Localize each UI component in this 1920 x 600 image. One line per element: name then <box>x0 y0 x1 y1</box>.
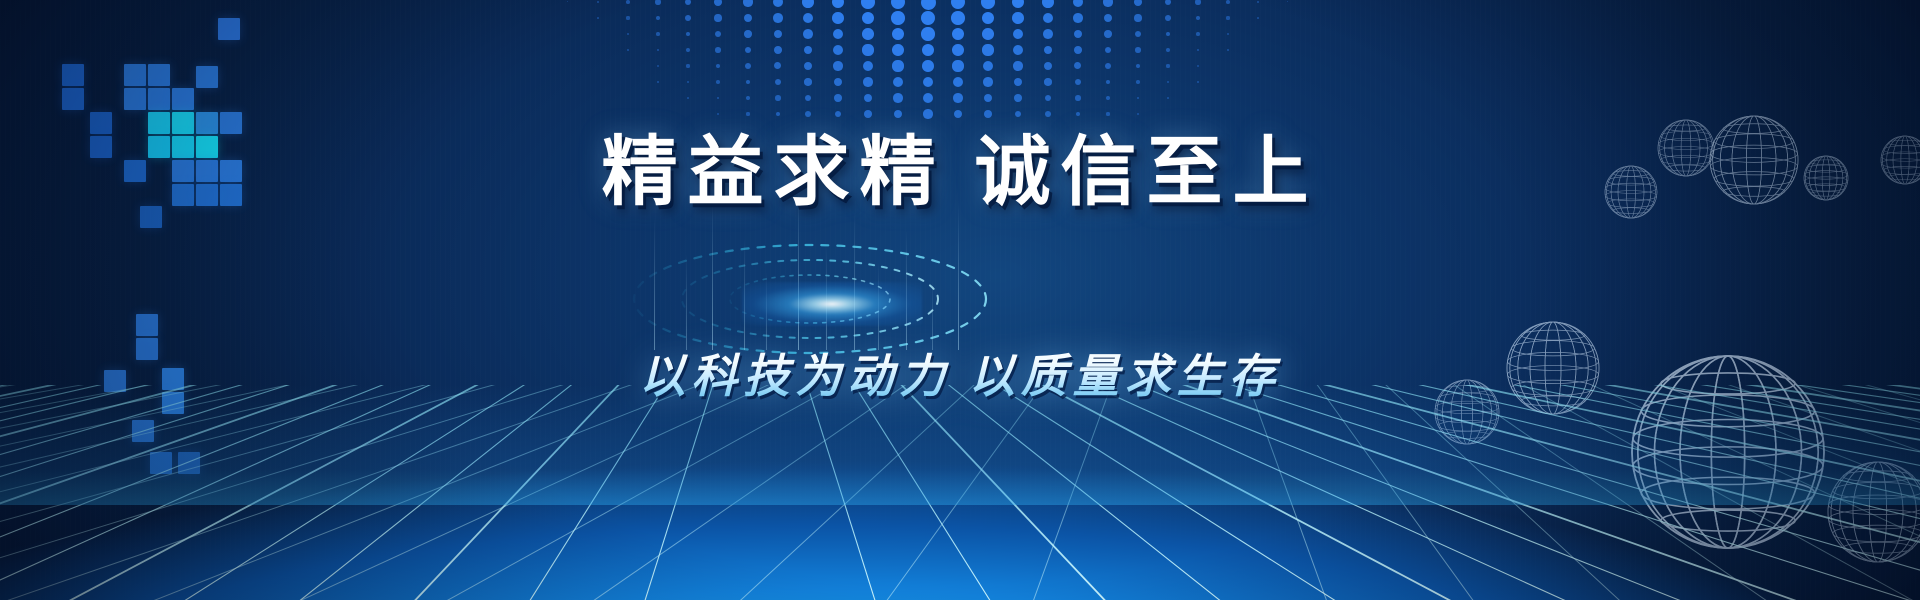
light-pillar <box>958 204 959 350</box>
page-subtitle: 以科技为动力 以质量求生存 <box>0 340 1920 406</box>
orbit-core-glow <box>742 282 922 326</box>
light-pillar <box>686 254 687 350</box>
light-pillar <box>712 200 713 350</box>
light-pillar <box>654 218 655 350</box>
tech-banner: 精益求精 诚信至上 以科技为动力 以质量求生存 <box>0 0 1920 600</box>
page-title: 精益求精 诚信至上 <box>0 110 1920 220</box>
light-pillar <box>854 212 855 350</box>
perspective-grid-floor <box>0 385 1920 600</box>
